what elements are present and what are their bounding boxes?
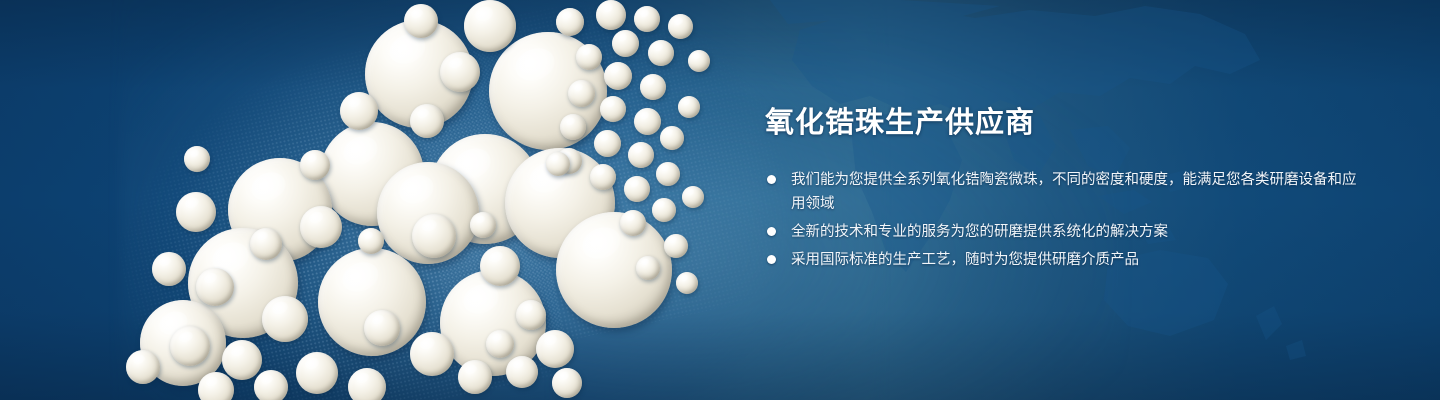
bullet-marker-icon bbox=[767, 255, 776, 264]
feature-list: 我们能为您提供全系列氧化锆陶瓷微珠，不同的密度和硬度，能满足您各类研磨设备和应用… bbox=[765, 168, 1365, 272]
list-item: 全新的技术和专业的服务为您的研磨提供系统化的解决方案 bbox=[765, 220, 1365, 244]
list-item: 我们能为您提供全系列氧化锆陶瓷微珠，不同的密度和硬度，能满足您各类研磨设备和应用… bbox=[765, 168, 1365, 216]
list-item-label: 我们能为您提供全系列氧化锆陶瓷微珠，不同的密度和硬度，能满足您各类研磨设备和应用… bbox=[791, 172, 1357, 212]
bullet-marker-icon bbox=[767, 227, 776, 236]
promo-banner: 氧化锆珠生产供应商 我们能为您提供全系列氧化锆陶瓷微珠，不同的密度和硬度，能满足… bbox=[0, 0, 1440, 400]
page-title: 氧化锆珠生产供应商 bbox=[765, 104, 1365, 142]
bullet-marker-icon bbox=[767, 175, 776, 184]
list-item-label: 全新的技术和专业的服务为您的研磨提供系统化的解决方案 bbox=[791, 224, 1168, 240]
banner-text-block: 氧化锆珠生产供应商 我们能为您提供全系列氧化锆陶瓷微珠，不同的密度和硬度，能满足… bbox=[765, 104, 1365, 276]
list-item: 采用国际标准的生产工艺，随时为您提供研磨介质产品 bbox=[765, 248, 1365, 272]
zirconia-beads-photo bbox=[0, 0, 780, 400]
list-item-label: 采用国际标准的生产工艺，随时为您提供研磨介质产品 bbox=[791, 252, 1139, 268]
